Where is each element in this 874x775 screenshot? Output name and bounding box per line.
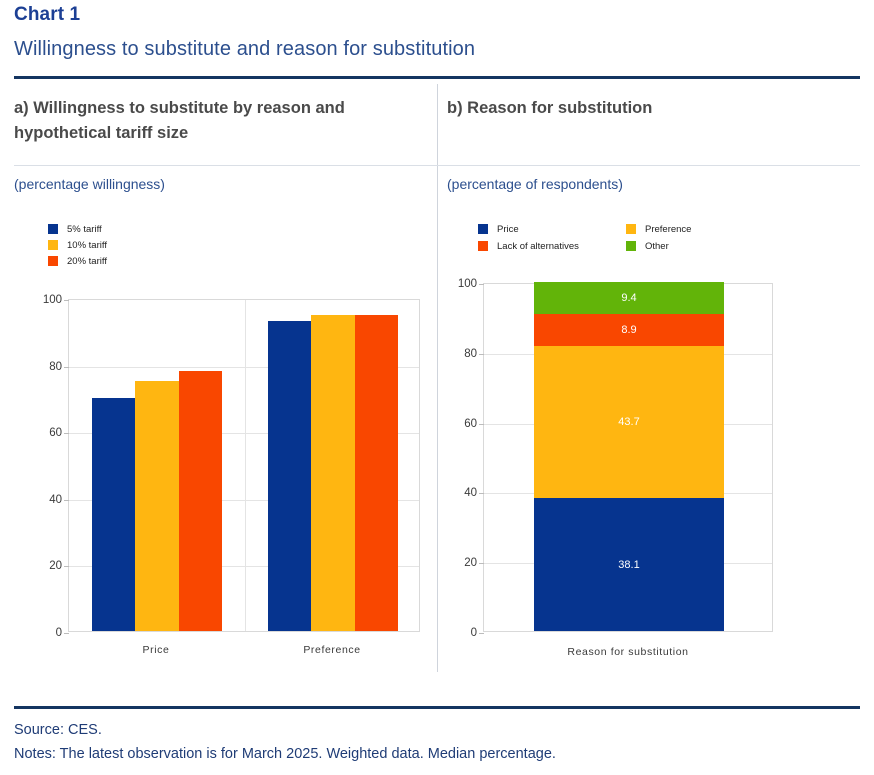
stacked-bar: 38.143.78.99.4 — [534, 282, 724, 631]
bar-20-tariff-price — [179, 371, 222, 631]
y-axis-tick-label: 100 — [43, 294, 62, 306]
y-axis-tick-label: 20 — [49, 560, 62, 572]
legend-item-label: Lack of alternatives — [497, 241, 579, 252]
legend-item: 5% tariff — [48, 221, 107, 237]
y-tick-mark — [479, 424, 484, 425]
panel-a-legend: 5% tariff10% tariff20% tariff — [48, 221, 107, 269]
stack-segment-value-label: 43.7 — [534, 416, 724, 428]
y-tick-mark — [64, 566, 69, 567]
bar-10-tariff-price — [135, 381, 178, 631]
legend-item-label: 20% tariff — [67, 256, 107, 267]
panel-b-heading: b) Reason for substitution — [447, 96, 857, 121]
stack-segment-value-label: 8.9 — [534, 324, 724, 336]
x-axis-category-label: Reason for substitution — [483, 646, 773, 658]
legend-item-label: Other — [645, 241, 669, 252]
legend-item: 20% tariff — [48, 253, 107, 269]
legend-item-label: 5% tariff — [67, 224, 102, 235]
legend-item-label: Preference — [645, 224, 691, 235]
y-axis-tick-label: 0 — [471, 627, 477, 639]
y-tick-mark — [64, 500, 69, 501]
stack-segment-preference: 43.7 — [534, 346, 724, 499]
chart-number-label: Chart 1 — [14, 4, 80, 26]
y-axis-tick-label: 40 — [464, 487, 477, 499]
panel-a-plot-area: 020406080100 — [68, 299, 420, 632]
notes-line: Notes: The latest observation is for Mar… — [14, 746, 556, 762]
source-note: Source: CES. — [14, 722, 102, 738]
legend-swatch-icon — [48, 224, 58, 234]
panel-b-legend: PricePreferenceLack of alternativesOther — [478, 221, 691, 255]
y-tick-mark — [479, 633, 484, 634]
stack-segment-price: 38.1 — [534, 498, 724, 631]
y-tick-mark — [479, 354, 484, 355]
y-axis-tick-label: 80 — [49, 361, 62, 373]
subheading-rule — [14, 165, 860, 166]
y-tick-mark — [479, 284, 484, 285]
legend-swatch-icon — [48, 256, 58, 266]
y-axis-tick-label: 0 — [56, 627, 62, 639]
bar-20-tariff-preference — [355, 315, 398, 631]
y-tick-mark — [64, 367, 69, 368]
header-rule — [14, 76, 860, 79]
legend-item: Other — [626, 238, 691, 254]
chart-title: Willingness to substitute and reason for… — [14, 38, 475, 61]
stack-segment-other: 9.4 — [534, 282, 724, 315]
panel-b-units: (percentage of respondents) — [447, 176, 623, 192]
bar-5-tariff-price — [92, 398, 135, 631]
panel-divider — [437, 84, 438, 672]
footer-rule — [14, 706, 860, 709]
category-separator — [245, 300, 246, 631]
legend-swatch-icon — [48, 240, 58, 250]
legend-item-label: Price — [497, 224, 519, 235]
y-tick-mark — [479, 493, 484, 494]
legend-swatch-icon — [626, 241, 636, 251]
legend-item-label: 10% tariff — [67, 240, 107, 251]
y-axis-tick-label: 60 — [49, 427, 62, 439]
stack-segment-lack-of-alternatives: 8.9 — [534, 314, 724, 345]
legend-swatch-icon — [478, 224, 488, 234]
y-tick-mark — [64, 433, 69, 434]
legend-swatch-icon — [478, 241, 488, 251]
legend-swatch-icon — [626, 224, 636, 234]
chart-page: Chart 1 Willingness to substitute and re… — [0, 0, 874, 775]
panel-a-units: (percentage willingness) — [14, 176, 165, 192]
y-tick-mark — [64, 633, 69, 634]
stack-segment-value-label: 9.4 — [534, 292, 724, 304]
x-axis-category-label: Price — [68, 644, 244, 656]
x-axis-category-label: Preference — [244, 644, 420, 656]
panel-a-heading: a) Willingness to substitute by reason a… — [14, 96, 424, 146]
legend-item: 10% tariff — [48, 237, 107, 253]
legend-item: Price — [478, 221, 626, 237]
panel-b-plot-area: 02040608010038.143.78.99.4 — [483, 283, 773, 632]
y-axis-tick-label: 40 — [49, 494, 62, 506]
y-axis-tick-label: 80 — [464, 348, 477, 360]
y-tick-mark — [479, 563, 484, 564]
stack-segment-value-label: 38.1 — [534, 559, 724, 571]
y-axis-tick-label: 60 — [464, 418, 477, 430]
y-axis-tick-label: 100 — [458, 278, 477, 290]
legend-item: Lack of alternatives — [478, 238, 626, 254]
bar-5-tariff-preference — [268, 321, 311, 631]
bar-10-tariff-preference — [311, 315, 354, 631]
legend-item: Preference — [626, 221, 691, 237]
y-tick-mark — [64, 300, 69, 301]
y-axis-tick-label: 20 — [464, 557, 477, 569]
